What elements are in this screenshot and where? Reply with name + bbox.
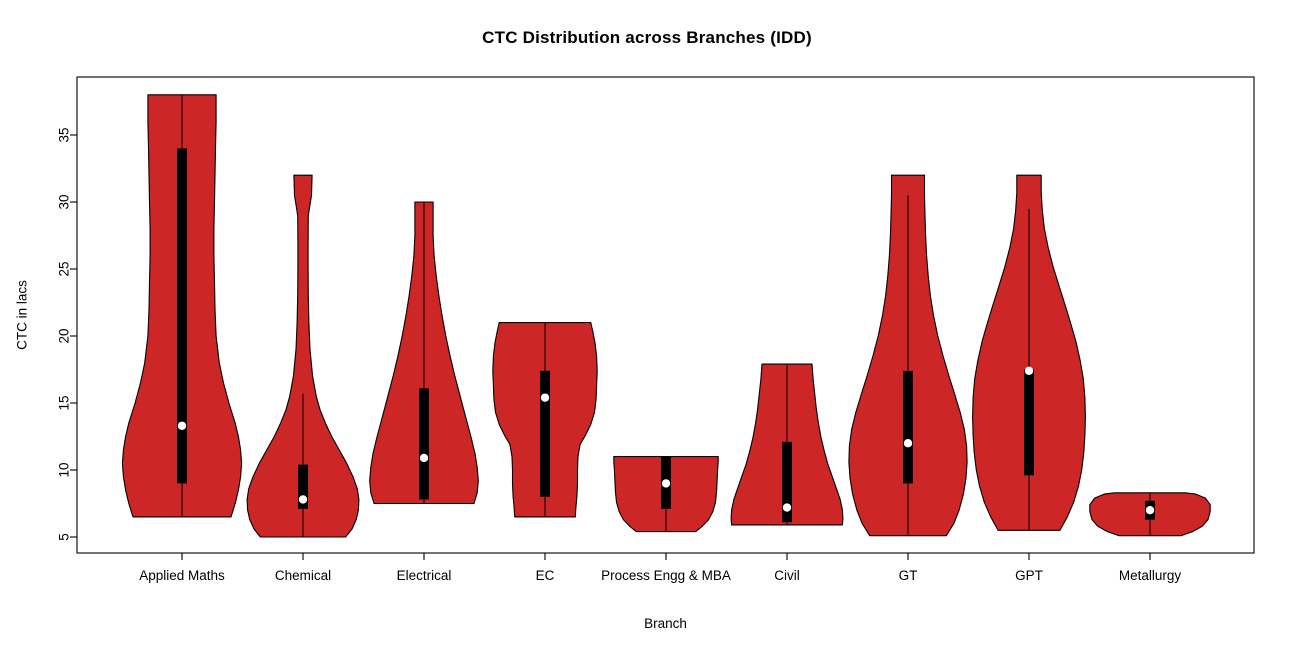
median-marker (1025, 367, 1033, 375)
median-marker (1146, 506, 1154, 514)
iqr-box (177, 148, 187, 483)
iqr-box (903, 371, 913, 484)
x-tick-label-electrical: Electrical (397, 568, 452, 583)
iqr-box (1024, 370, 1034, 476)
y-tick-label: 20 (57, 328, 72, 343)
x-axis-title: Branch (644, 616, 687, 631)
x-tick-label-gpt: GPT (1015, 568, 1043, 583)
x-tick-label-process-engg-mba: Process Engg & MBA (601, 568, 731, 583)
x-tick-label-chemical: Chemical (275, 568, 331, 583)
y-tick-label: 30 (57, 194, 72, 209)
y-axis-title: CTC in lacs (15, 280, 30, 350)
y-tick-label: 35 (57, 127, 72, 142)
violin-plot-figure: CTC Distribution across Branches (IDD) 5… (0, 0, 1294, 653)
x-tick-label-civil: Civil (774, 568, 800, 583)
median-marker (904, 439, 912, 447)
median-marker (662, 479, 670, 487)
y-tick-label: 10 (57, 462, 72, 477)
y-tick-label: 15 (57, 395, 72, 410)
y-tick-label: 5 (57, 533, 72, 541)
x-tick-label-gt: GT (899, 568, 918, 583)
median-marker (178, 422, 186, 430)
iqr-box (419, 388, 429, 499)
x-tick-label-applied-maths: Applied Maths (139, 568, 225, 583)
median-marker (299, 495, 307, 503)
x-tick-label-metallurgy: Metallurgy (1119, 568, 1182, 583)
median-marker (541, 393, 549, 401)
chart-canvas: 5101520253035CTC in lacsApplied MathsChe… (0, 0, 1294, 653)
median-marker (420, 454, 428, 462)
iqr-box (540, 371, 550, 497)
x-tick-label-ec: EC (536, 568, 555, 583)
median-marker (783, 503, 791, 511)
y-tick-label: 25 (57, 261, 72, 276)
